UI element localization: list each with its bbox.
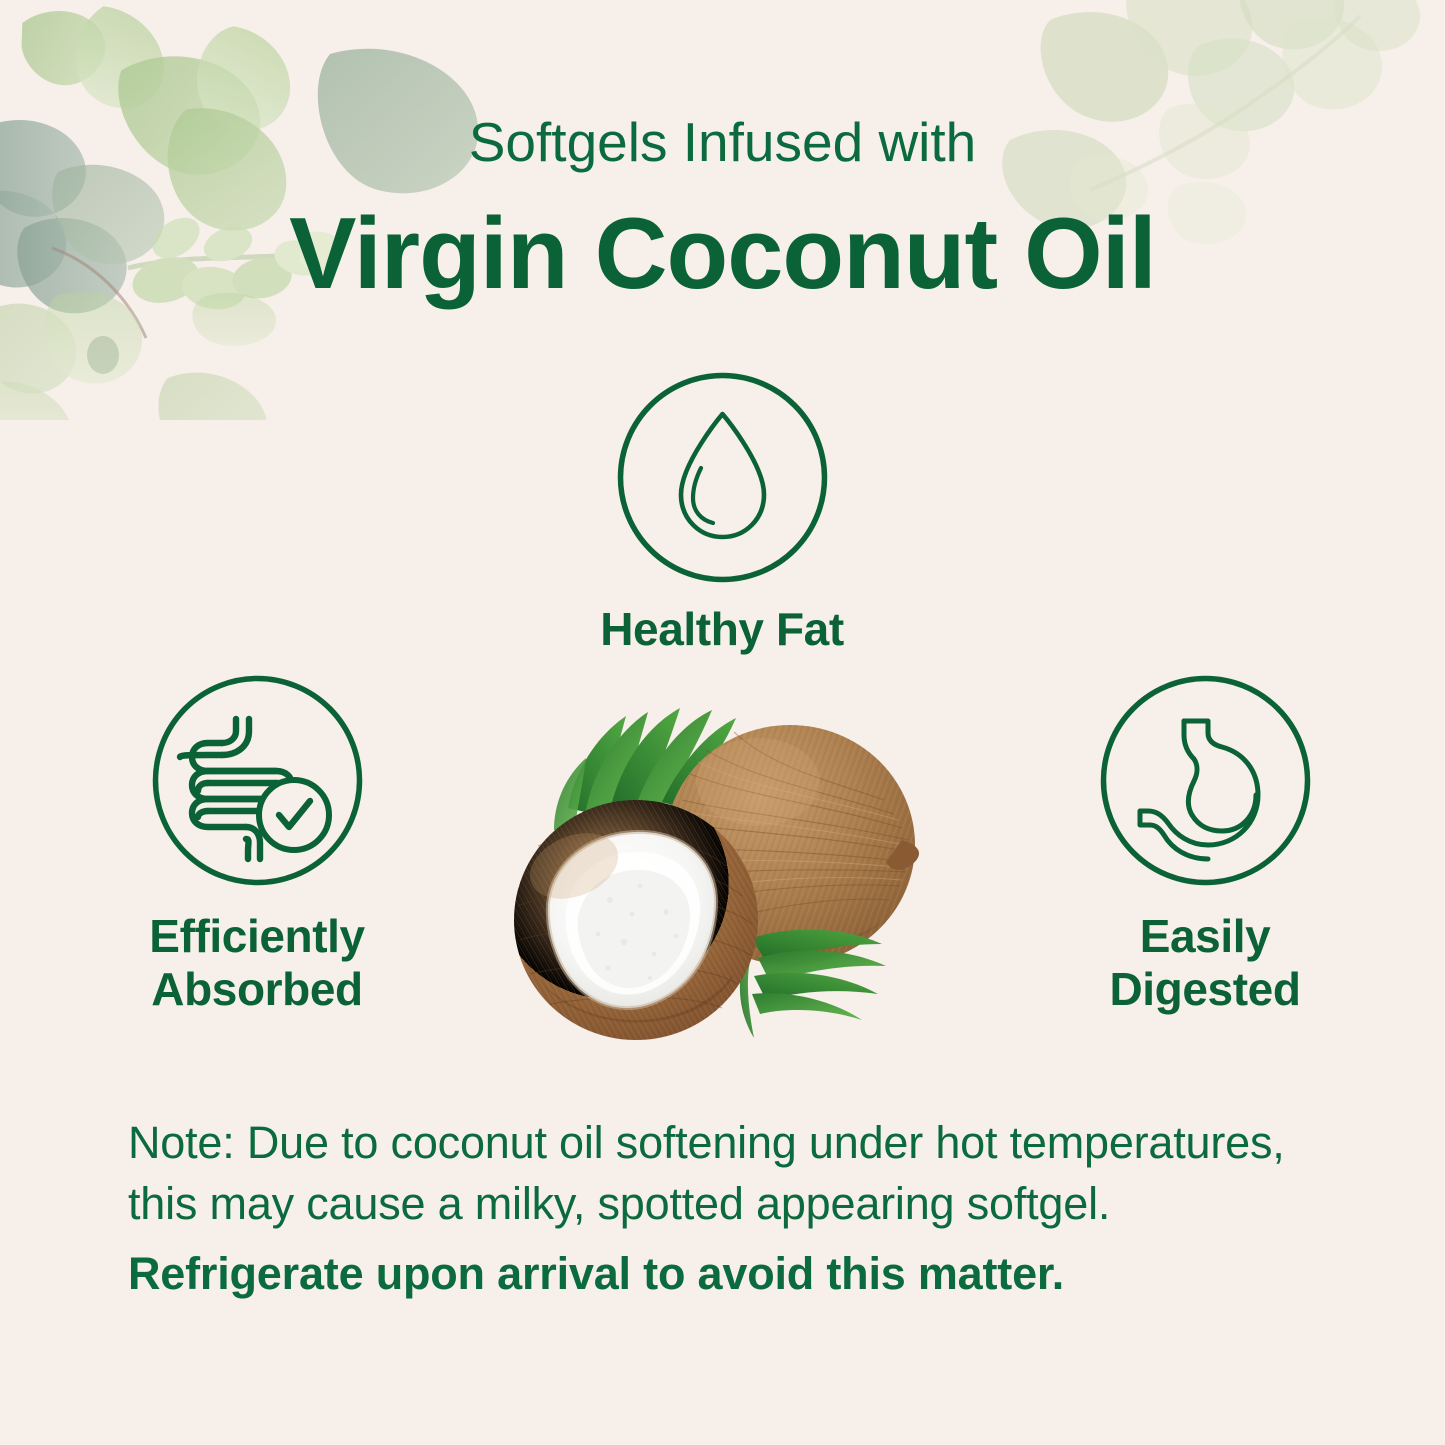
note-line-2: this may cause a milky, spotted appearin… [128, 1173, 1358, 1234]
stomach-icon [1098, 673, 1313, 888]
feature-label-efficiently-absorbed: Efficiently Absorbed [22, 910, 492, 1017]
feature-efficiently-absorbed: Efficiently Absorbed [22, 673, 492, 1017]
half-coconut [514, 800, 758, 1040]
coconut-photo [490, 690, 950, 1080]
note-block: Note: Due to coconut oil softening under… [128, 1112, 1358, 1304]
floating-leaves [0, 291, 276, 420]
note-line-3: Refrigerate upon arrival to avoid this m… [128, 1243, 1358, 1304]
oil-droplet-icon [615, 370, 830, 585]
note-line-1: Note: Due to coconut oil softening under… [128, 1112, 1358, 1173]
page-title: Virgin Coconut Oil [0, 201, 1445, 307]
eyebrow-heading: Softgels Infused with [0, 112, 1445, 173]
feature-label-healthy-fat: Healthy Fat [482, 603, 962, 656]
headline-block: Softgels Infused with Virgin Coconut Oil [0, 112, 1445, 307]
feature-easily-digested: Easily Digested [985, 673, 1425, 1017]
palm-fronds-bottom [740, 930, 886, 1038]
feature-healthy-fat: Healthy Fat [482, 370, 962, 656]
feature-label-easily-digested: Easily Digested [985, 910, 1425, 1017]
coconut-oil-infographic: Softgels Infused with Virgin Coconut Oil… [0, 0, 1445, 1445]
intestine-check-icon [150, 673, 365, 888]
